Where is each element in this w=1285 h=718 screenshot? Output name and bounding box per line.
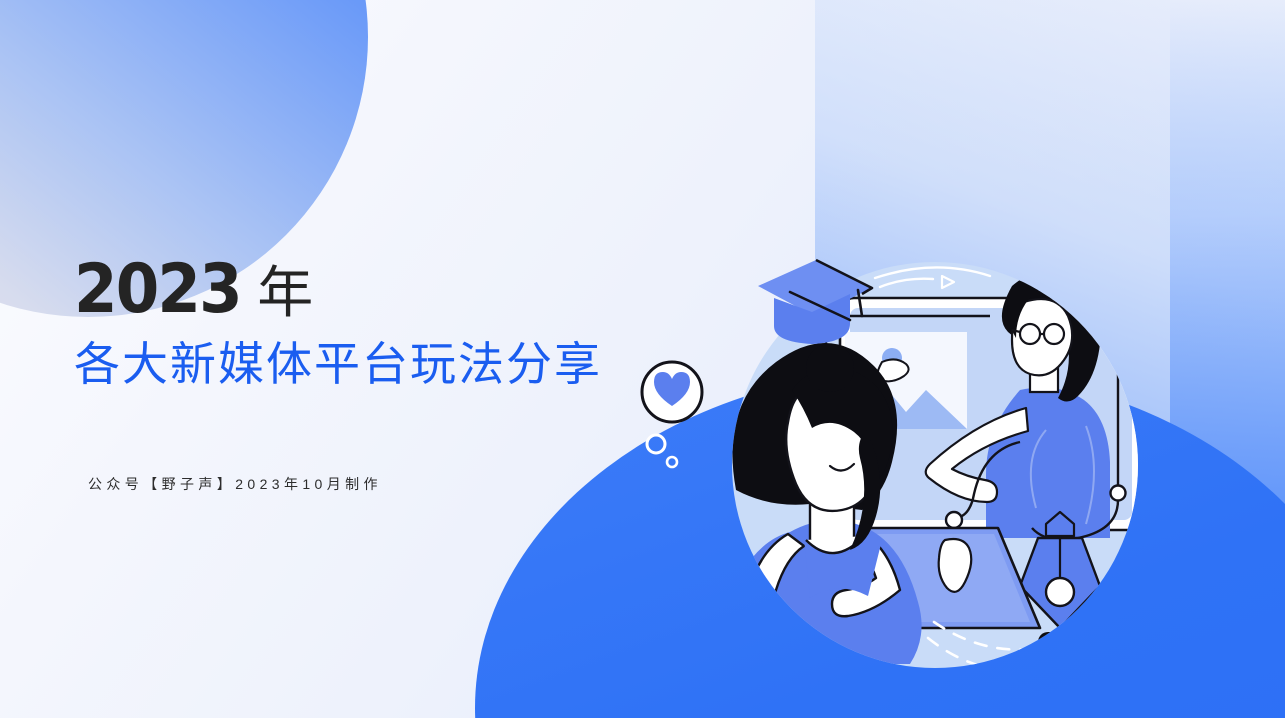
headline-year-suffix: 年: [257, 261, 313, 324]
online-learning-illustration: [690, 250, 1190, 690]
teacher-bun: [1050, 258, 1086, 294]
page-subtitle: 各大新媒体平台玩法分享: [74, 338, 602, 390]
page-title: 2023年: [74, 256, 602, 324]
headline-year-number: 2023: [74, 256, 241, 324]
title-slide: 2023年 各大新媒体平台玩法分享 公众号【野子声】2023年10月制作: [0, 0, 1285, 718]
headline-group: 2023年 各大新媒体平台玩法分享: [74, 256, 602, 390]
student-bun: [806, 344, 854, 392]
byline-text: 公众号【野子声】2023年10月制作: [88, 474, 382, 494]
cable-node-lower: [946, 512, 962, 528]
cable-node-upper: [1111, 486, 1126, 501]
